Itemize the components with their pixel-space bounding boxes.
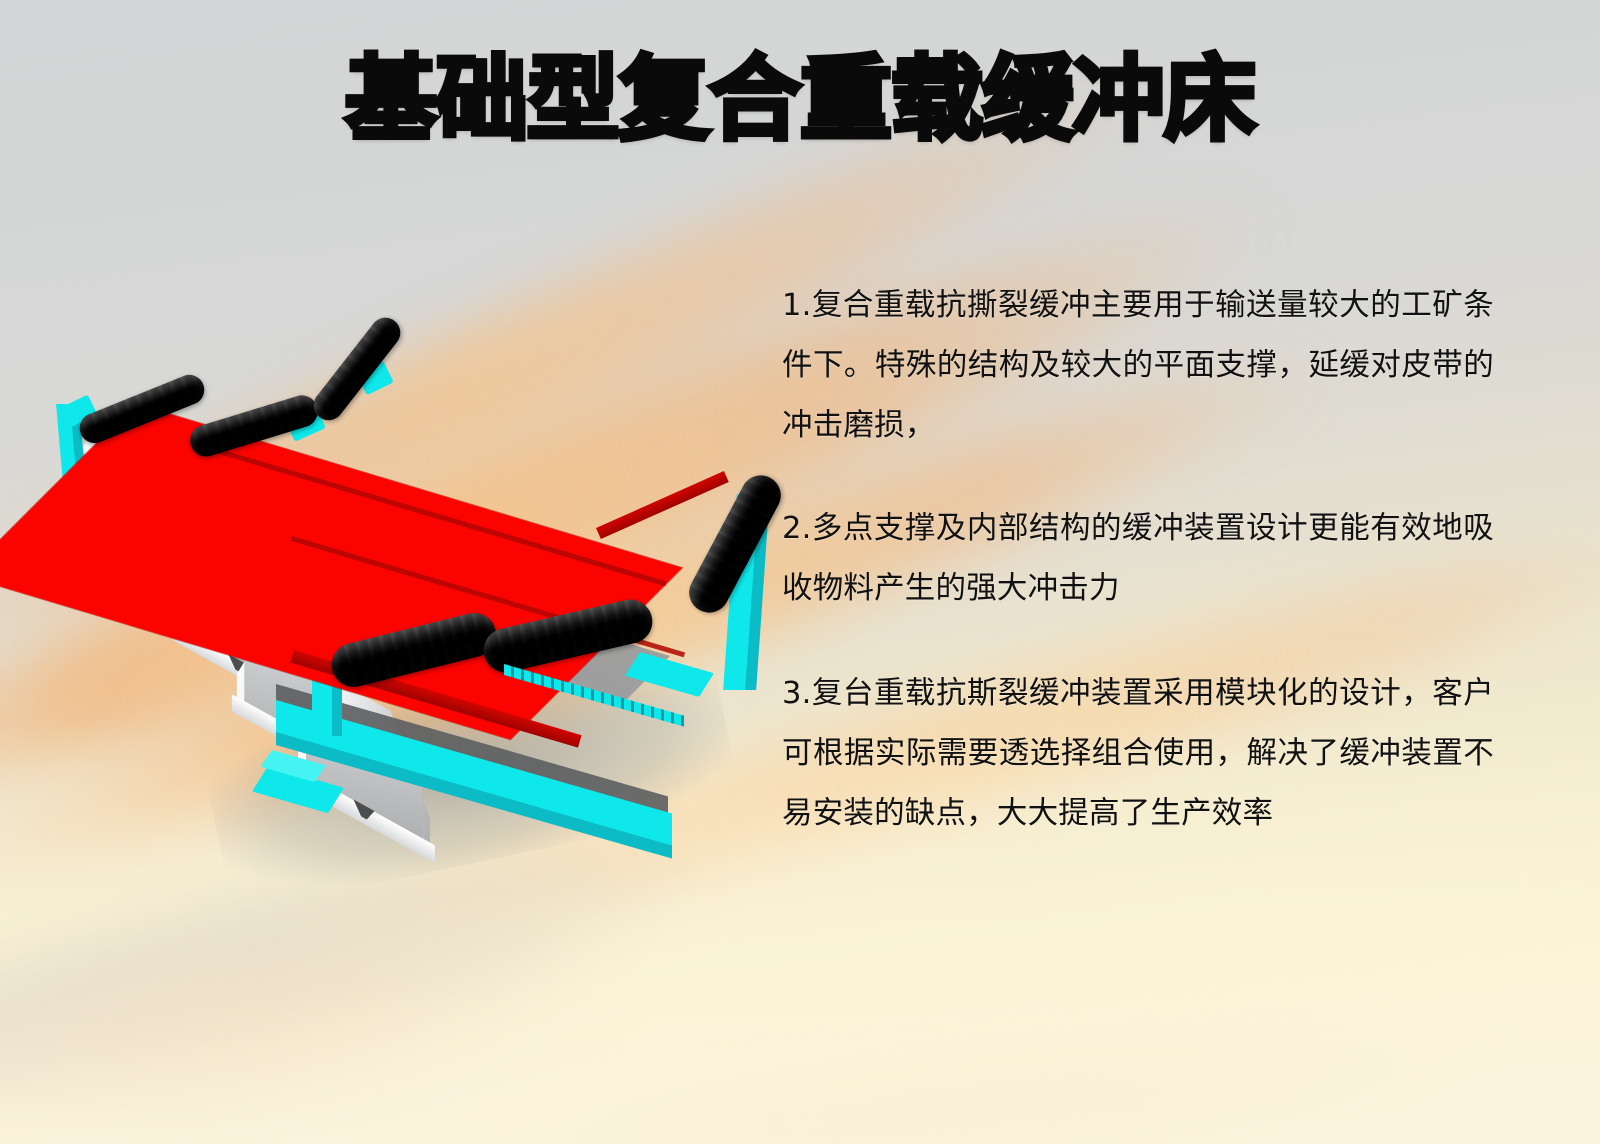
feature-item-2: 2.多点支撑及内部结构的缓冲装置设计更能有效地吸收物料产生的强大冲击力 xyxy=(782,499,1494,619)
feature-item-3: 3.复台重载抗斯裂缓冲装置采用模块化的设计，客户可根据实际需要透选择组合使用，解… xyxy=(782,664,1494,844)
product-render-impact-bed xyxy=(40,352,810,882)
feature-list: 1.复合重载抗撕裂缓冲主要用于输送量较大的工矿条件下。特殊的结构及较大的平面支撑… xyxy=(782,276,1494,844)
page-title: 基础型复合重载缓冲床 xyxy=(0,52,1600,149)
impact-bed-right-edge xyxy=(596,471,729,539)
feature-item-1: 1.复合重载抗撕裂缓冲主要用于输送量较大的工矿条件下。特殊的结构及较大的平面支撑… xyxy=(782,276,1494,456)
poster-canvas: 基础型复合重载缓冲床 xyxy=(0,0,1600,1144)
